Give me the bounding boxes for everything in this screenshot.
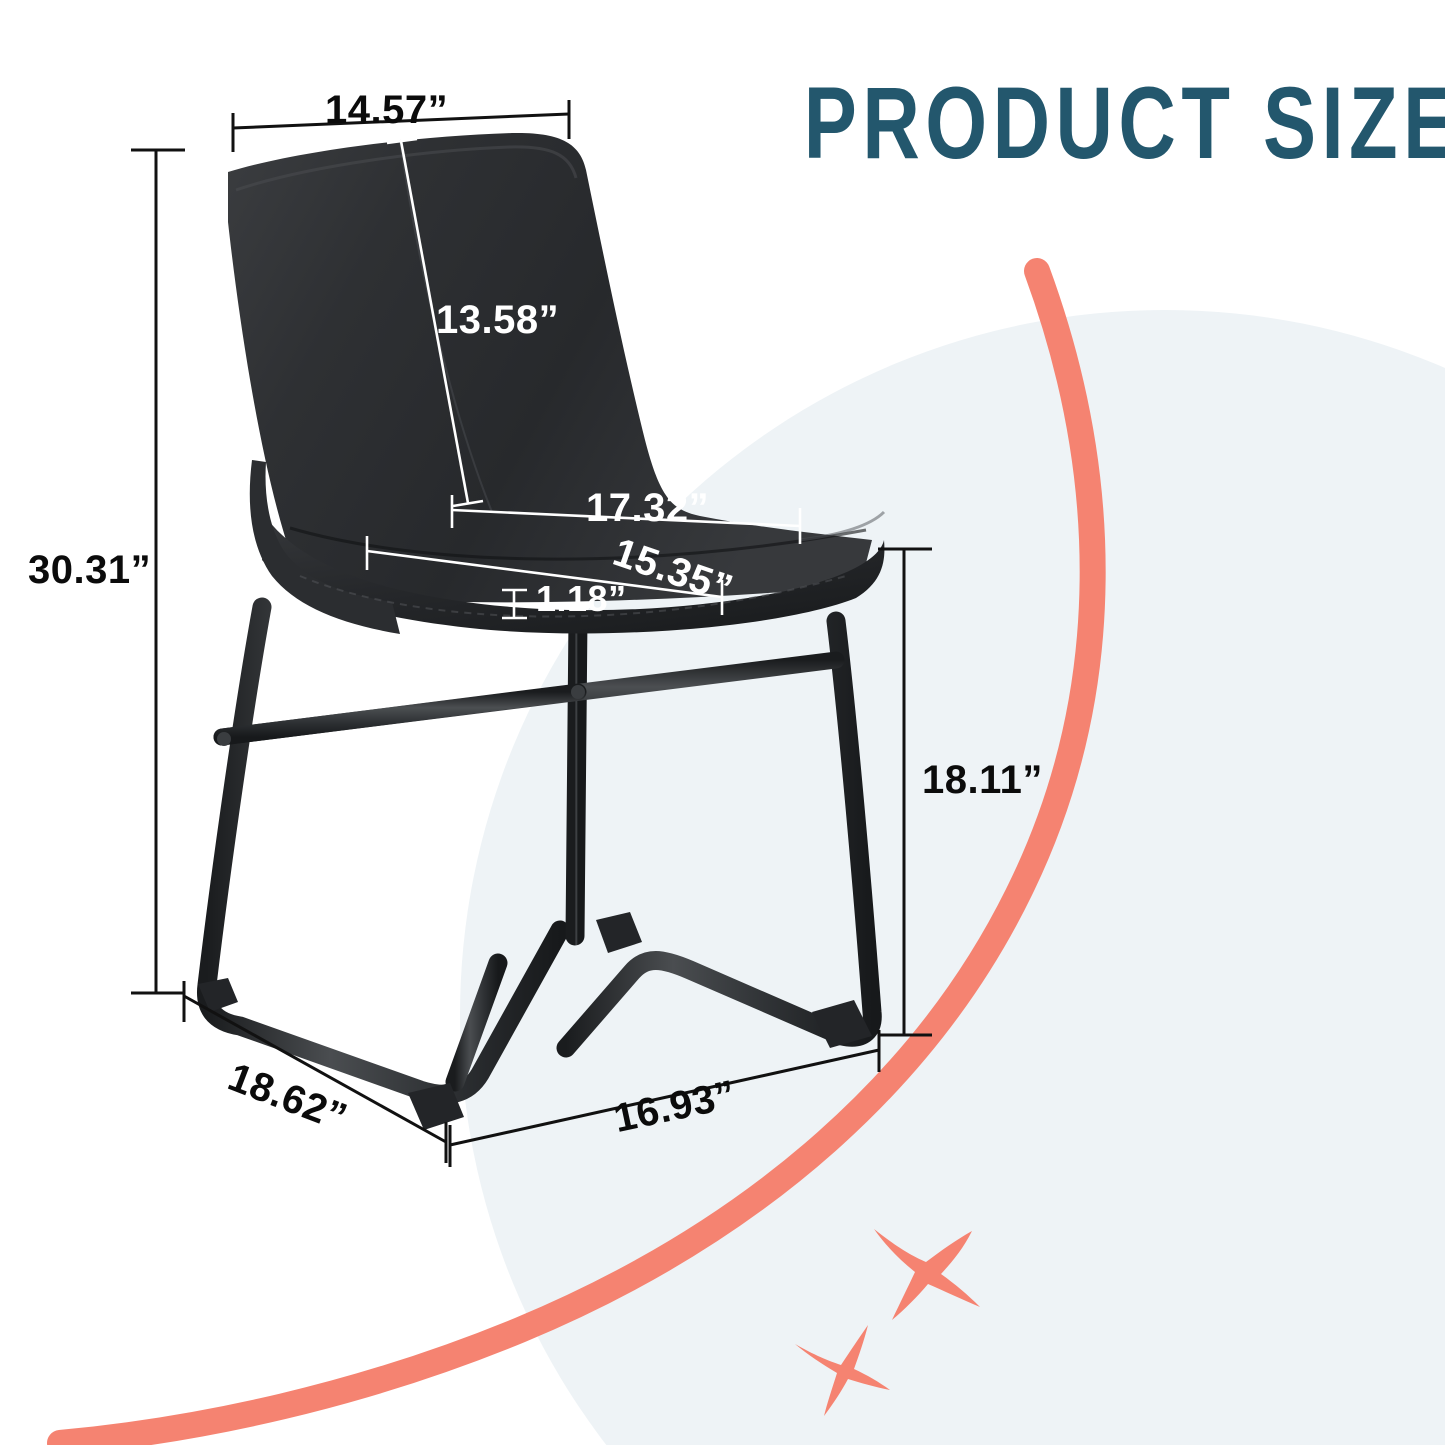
product-size-infographic: PRODUCT SIZE [0, 0, 1445, 1445]
dimline-base-depth [184, 981, 446, 1163]
label-back-height: 13.58” [436, 298, 559, 343]
label-seat-thickness: 1.18” [536, 578, 627, 620]
dimension-overlay [0, 0, 1445, 1445]
label-back-width: 14.57” [325, 88, 448, 133]
label-overall-height: 30.31” [28, 548, 151, 593]
dimline-seat-thickness [502, 590, 527, 618]
label-seat-height: 18.11” [922, 758, 1043, 803]
label-seat-depth: 17.32” [586, 486, 709, 531]
